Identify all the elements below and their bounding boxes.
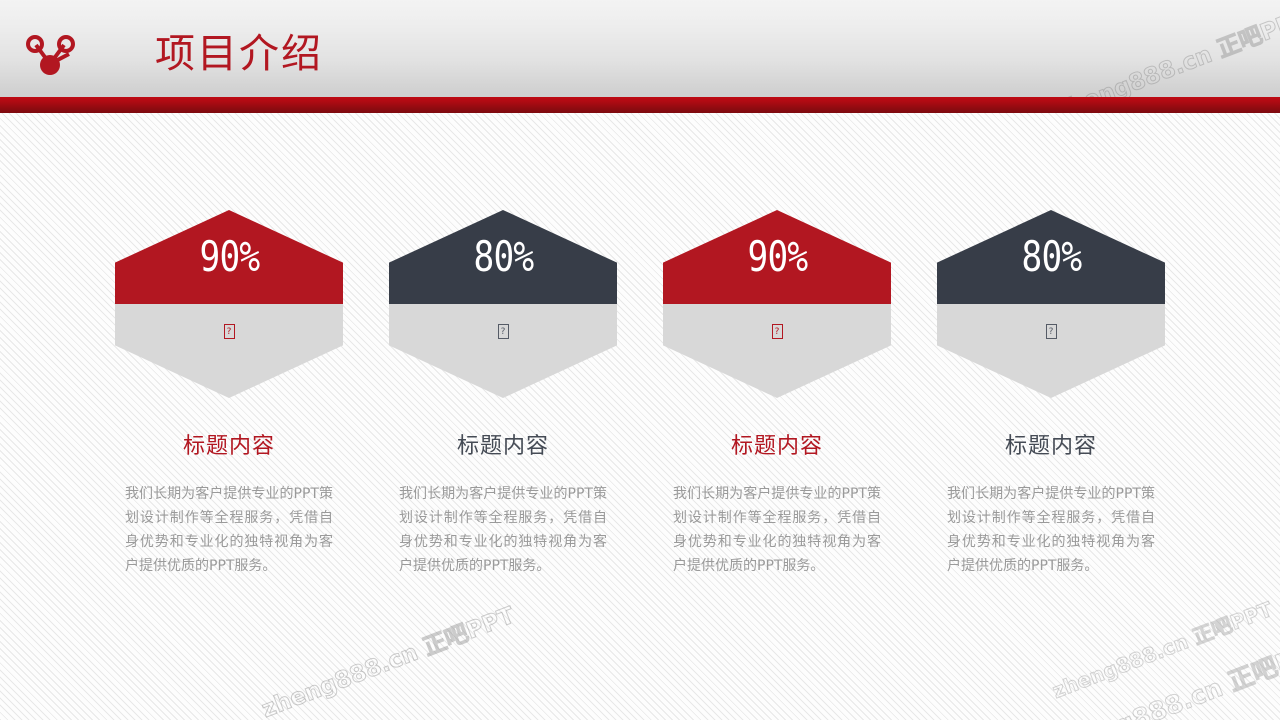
percent-value: 80% [1021, 236, 1081, 278]
slide-canvas: 项目介绍 zheng888.cn 正吧PPT 90% ? 标题内容 我们长期为客… [0, 0, 1280, 720]
missing-glyph-tofu-icon: ? [772, 324, 783, 339]
slide-header: 项目介绍 zheng888.cn 正吧PPT [0, 0, 1280, 97]
hexagon-bottom: ? [663, 304, 891, 398]
info-column: 90% ? 标题内容 我们长期为客户提供专业的PPT策划设计制作等全程服务，凭借… [640, 210, 914, 578]
column-body-text: 我们长期为客户提供专业的PPT策划设计制作等全程服务，凭借自身优势和专业化的独特… [947, 482, 1155, 578]
hexagon-top: 80% [937, 210, 1165, 304]
page-title: 项目介绍 [155, 28, 323, 80]
header-accent-rule [0, 97, 1280, 113]
column-body-text: 我们长期为客户提供专业的PPT策划设计制作等全程服务，凭借自身优势和专业化的独特… [673, 482, 881, 578]
column-body-text: 我们长期为客户提供专业的PPT策划设计制作等全程服务，凭借自身优势和专业化的独特… [399, 482, 607, 578]
hexagon-badge[interactable]: 90% ? [115, 210, 343, 398]
missing-glyph-tofu-icon: ? [498, 324, 509, 339]
hexagon-badge[interactable]: 80% ? [937, 210, 1165, 398]
missing-glyph-tofu-icon: ? [224, 324, 235, 339]
percent-value: 90% [199, 236, 259, 278]
column-title: 标题内容 [457, 434, 549, 460]
info-column: 80% ? 标题内容 我们长期为客户提供专业的PPT策划设计制作等全程服务，凭借… [366, 210, 640, 578]
hexagon-badge[interactable]: 90% ? [663, 210, 891, 398]
hexagon-bottom: ? [937, 304, 1165, 398]
info-column: 80% ? 标题内容 我们长期为客户提供专业的PPT策划设计制作等全程服务，凭借… [914, 210, 1188, 578]
column-body-text: 我们长期为客户提供专业的PPT策划设计制作等全程服务，凭借自身优势和专业化的独特… [125, 482, 333, 578]
percent-value: 90% [747, 236, 807, 278]
hexagon-bottom: ? [115, 304, 343, 398]
column-title: 标题内容 [731, 434, 823, 460]
column-title: 标题内容 [1005, 434, 1097, 460]
column-title: 标题内容 [183, 434, 275, 460]
network-node-icon [22, 32, 78, 78]
info-column: 90% ? 标题内容 我们长期为客户提供专业的PPT策划设计制作等全程服务，凭借… [92, 210, 366, 578]
percent-value: 80% [473, 236, 533, 278]
columns-container: 90% ? 标题内容 我们长期为客户提供专业的PPT策划设计制作等全程服务，凭借… [0, 210, 1280, 578]
hexagon-badge[interactable]: 80% ? [389, 210, 617, 398]
hexagon-bottom: ? [389, 304, 617, 398]
hexagon-top: 90% [115, 210, 343, 304]
missing-glyph-tofu-icon: ? [1046, 324, 1057, 339]
hexagon-top: 80% [389, 210, 617, 304]
hexagon-top: 90% [663, 210, 891, 304]
watermark-header-right: zheng888.cn 正吧PPT [1050, 0, 1280, 97]
